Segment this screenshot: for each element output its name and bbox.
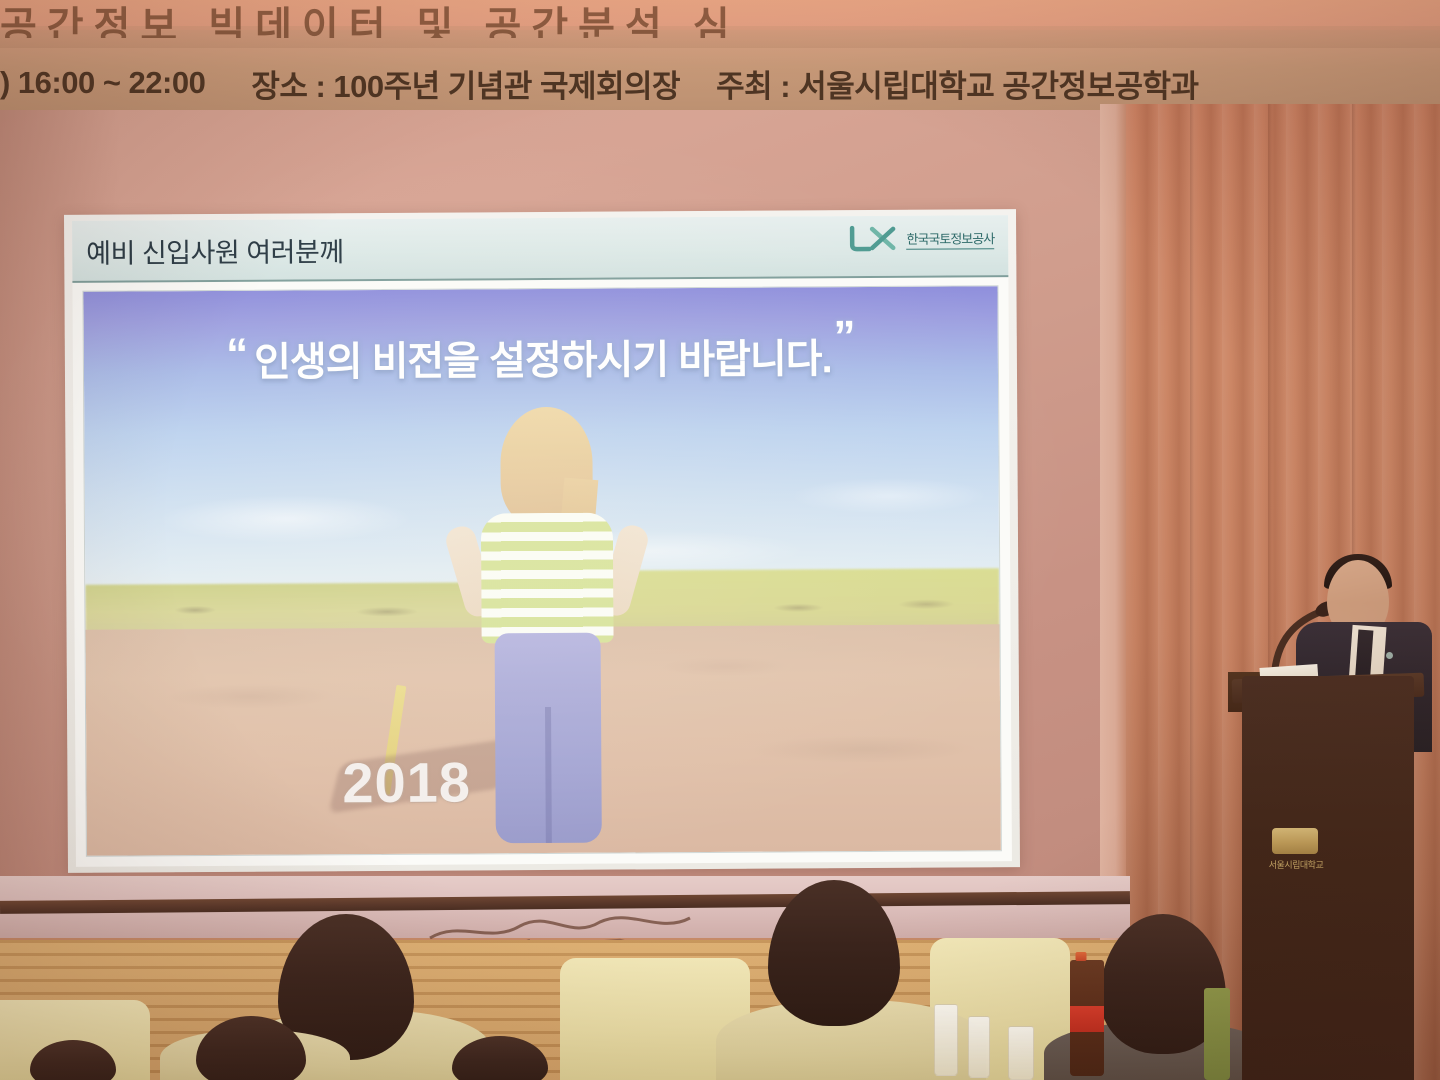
podium-emblem-label: 서울시립대학교 [1264,858,1328,871]
slide-photo: “인생의 비전을 설정하시기 바랍니다.” 2018 [82,285,1001,857]
banner-place: 장소 : 100주년 기념관 국제회의장 [251,61,680,106]
slide-title: 예비 신입사원 여러분께 [86,230,344,271]
lx-logo-name: 한국국토정보공사 [906,228,994,250]
banner-host: 주최 : 서울시립대학교 공간정보공학과 [716,61,1198,106]
girl-jeans-seam [545,707,552,843]
lx-logo-group: 한국국토정보공사 [848,223,994,254]
banner-info-line: ) 16:00 ~ 22:00 장소 : 100주년 기념관 국제회의장 주최 … [0,60,1440,106]
cola-bottle [1070,960,1104,1076]
slide-body: “인생의 비전을 설정하시기 바랍니다.” 2018 [72,277,1012,867]
projection-screen: 예비 신입사원 여러분께 한국국토정보공사 [64,209,1020,873]
speaker-podium [1242,676,1414,1080]
lx-logo-icon [848,224,900,254]
cola-label [1070,1006,1104,1032]
slide-year: 2018 [342,749,471,815]
water-bottle [1008,1026,1034,1080]
banner-time: ) 16:00 ~ 22:00 [0,65,205,101]
slide-surface: 예비 신입사원 여러분께 한국국토정보공사 [72,215,1012,867]
water-bottle [968,1016,990,1078]
girl-striped-shirt [480,513,613,644]
podium-emblem [1272,828,1318,854]
water-bottle [934,1004,958,1076]
speaker-lapel-pin [1386,652,1393,659]
bottle-cap [1076,952,1087,961]
beverage-bottle [1204,988,1230,1080]
banner-title-cropped: 공간정보 빅데이터 및 공간분석 심 [0,0,1440,38]
photo-girl [456,407,639,854]
slide-header: 예비 신입사원 여러분께 한국국토정보공사 [72,215,1008,283]
conference-hall-scene: 공간정보 빅데이터 및 공간분석 심 ) 16:00 ~ 22:00 장소 : … [0,0,1440,1080]
